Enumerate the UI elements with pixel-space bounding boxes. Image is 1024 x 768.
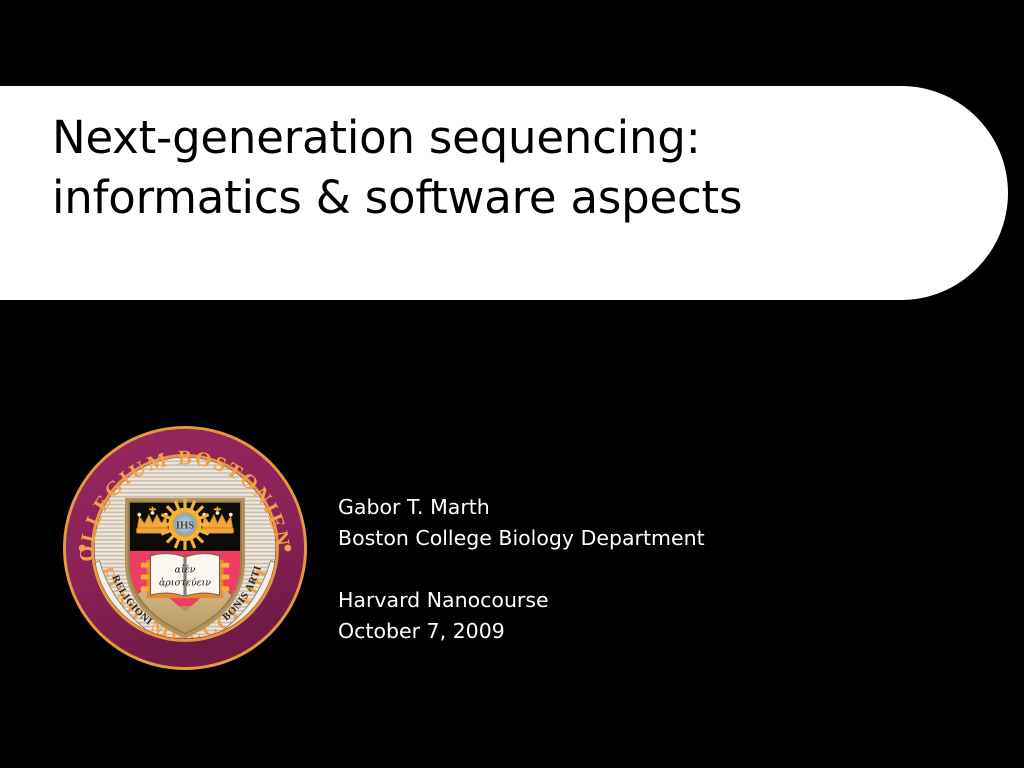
book-text-line2: ἀριστεύειν — [159, 577, 211, 588]
presenter-info-block: Gabor T. Marth Boston College Biology De… — [338, 492, 705, 647]
sunburst-monogram: IHS — [176, 519, 195, 531]
presentation-slide: Next-generation sequencing: informatics … — [0, 0, 1024, 768]
page-title: Next-generation sequencing: informatics … — [52, 108, 952, 228]
book-text-line1: αἰὲν — [175, 565, 196, 576]
sunburst-icon: IHS — [159, 499, 210, 550]
presenter-affiliation: Boston College Biology Department — [338, 523, 705, 554]
presenter-name: Gabor T. Marth — [338, 492, 705, 523]
open-book-icon: αἰὲν ἀριστεύειν — [141, 554, 230, 599]
event-date: October 7, 2009 — [338, 616, 705, 647]
event-name: Harvard Nanocourse — [338, 585, 705, 616]
title-banner: Next-generation sequencing: informatics … — [0, 86, 1008, 300]
seal-dot-left — [79, 545, 86, 552]
boston-college-seal: COLLEGIUM BOSTONIENSE FUND. MDCCCLXIII — [62, 423, 308, 673]
presenter-spacer — [338, 554, 705, 585]
seal-dot-right — [284, 545, 291, 552]
